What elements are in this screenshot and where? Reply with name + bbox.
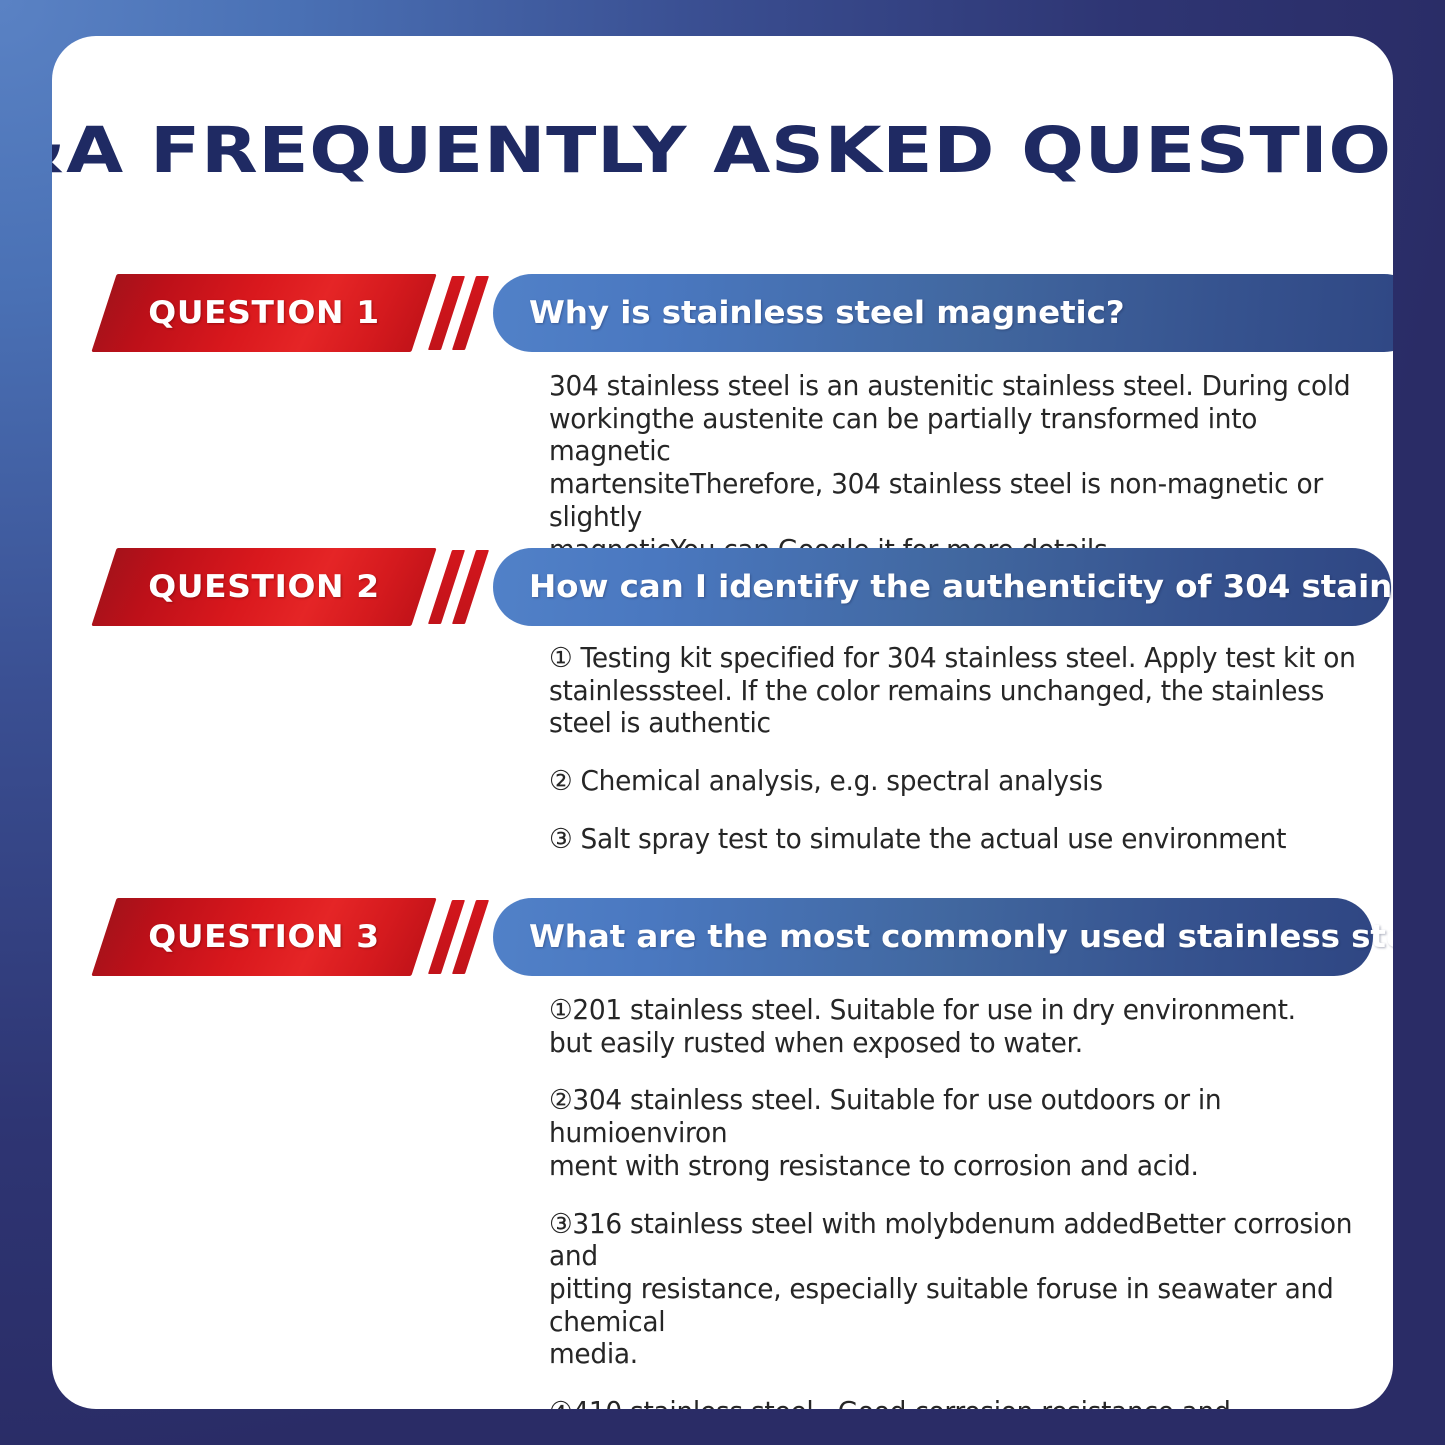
answer-paragraph: ②304 stainless steel. Suitable for use o… <box>549 1084 1359 1182</box>
answer-paragraph: 304 stainless steel is an austenitic sta… <box>549 370 1359 566</box>
answer-paragraph: ③ Salt spray test to simulate the actual… <box>549 823 1356 856</box>
answer-paragraph: ② Chemical analysis, e.g. spectral analy… <box>549 765 1356 798</box>
question-tag-shape-1 <box>91 274 436 352</box>
faq-banner-2: QUESTION 2 How can I identify the authen… <box>52 548 1393 626</box>
answer-paragraph: ④410 stainless steel . Good corrosion re… <box>549 1396 1359 1409</box>
page-title: Q&A FREQUENTLY ASKED QUESTIONS <box>52 114 1393 187</box>
question-tag-shape-2 <box>91 548 436 626</box>
question-pill-2[interactable]: How can I identify the authenticity of 3… <box>493 548 1391 626</box>
question-text-1: Why is stainless steel magnetic? <box>529 295 1125 331</box>
faq-item-2: QUESTION 2 How can I identify the authen… <box>52 548 1393 626</box>
answer-body-1: 304 stainless steel is an austenitic sta… <box>549 370 1359 566</box>
answer-paragraph: ③316 stainless steel with molybdenum add… <box>549 1208 1359 1372</box>
answer-paragraph: ① Testing kit specified for 304 stainles… <box>549 642 1356 740</box>
question-pill-3[interactable]: What are the most commonly used stainles… <box>493 898 1373 976</box>
faq-card: Q&A FREQUENTLY ASKED QUESTIONS QUESTION … <box>52 36 1393 1409</box>
faq-banner-1: QUESTION 1 Why is stainless steel magnet… <box>52 274 1393 352</box>
answer-body-2: ① Testing kit specified for 304 stainles… <box>549 642 1356 856</box>
question-text-3: What are the most commonly used stainles… <box>529 919 1393 955</box>
faq-item-1: QUESTION 1 Why is stainless steel magnet… <box>52 274 1393 352</box>
question-text-2: How can I identify the authenticity of 3… <box>529 569 1393 605</box>
answer-body-3: ①201 stainless steel. Suitable for use i… <box>549 994 1359 1409</box>
question-pill-1[interactable]: Why is stainless steel magnetic? <box>493 274 1393 352</box>
answer-paragraph: ①201 stainless steel. Suitable for use i… <box>549 994 1359 1059</box>
faq-item-3: QUESTION 3 What are the most commonly us… <box>52 898 1393 976</box>
question-tag-shape-3 <box>91 898 436 976</box>
faq-banner-3: QUESTION 3 What are the most commonly us… <box>52 898 1393 976</box>
